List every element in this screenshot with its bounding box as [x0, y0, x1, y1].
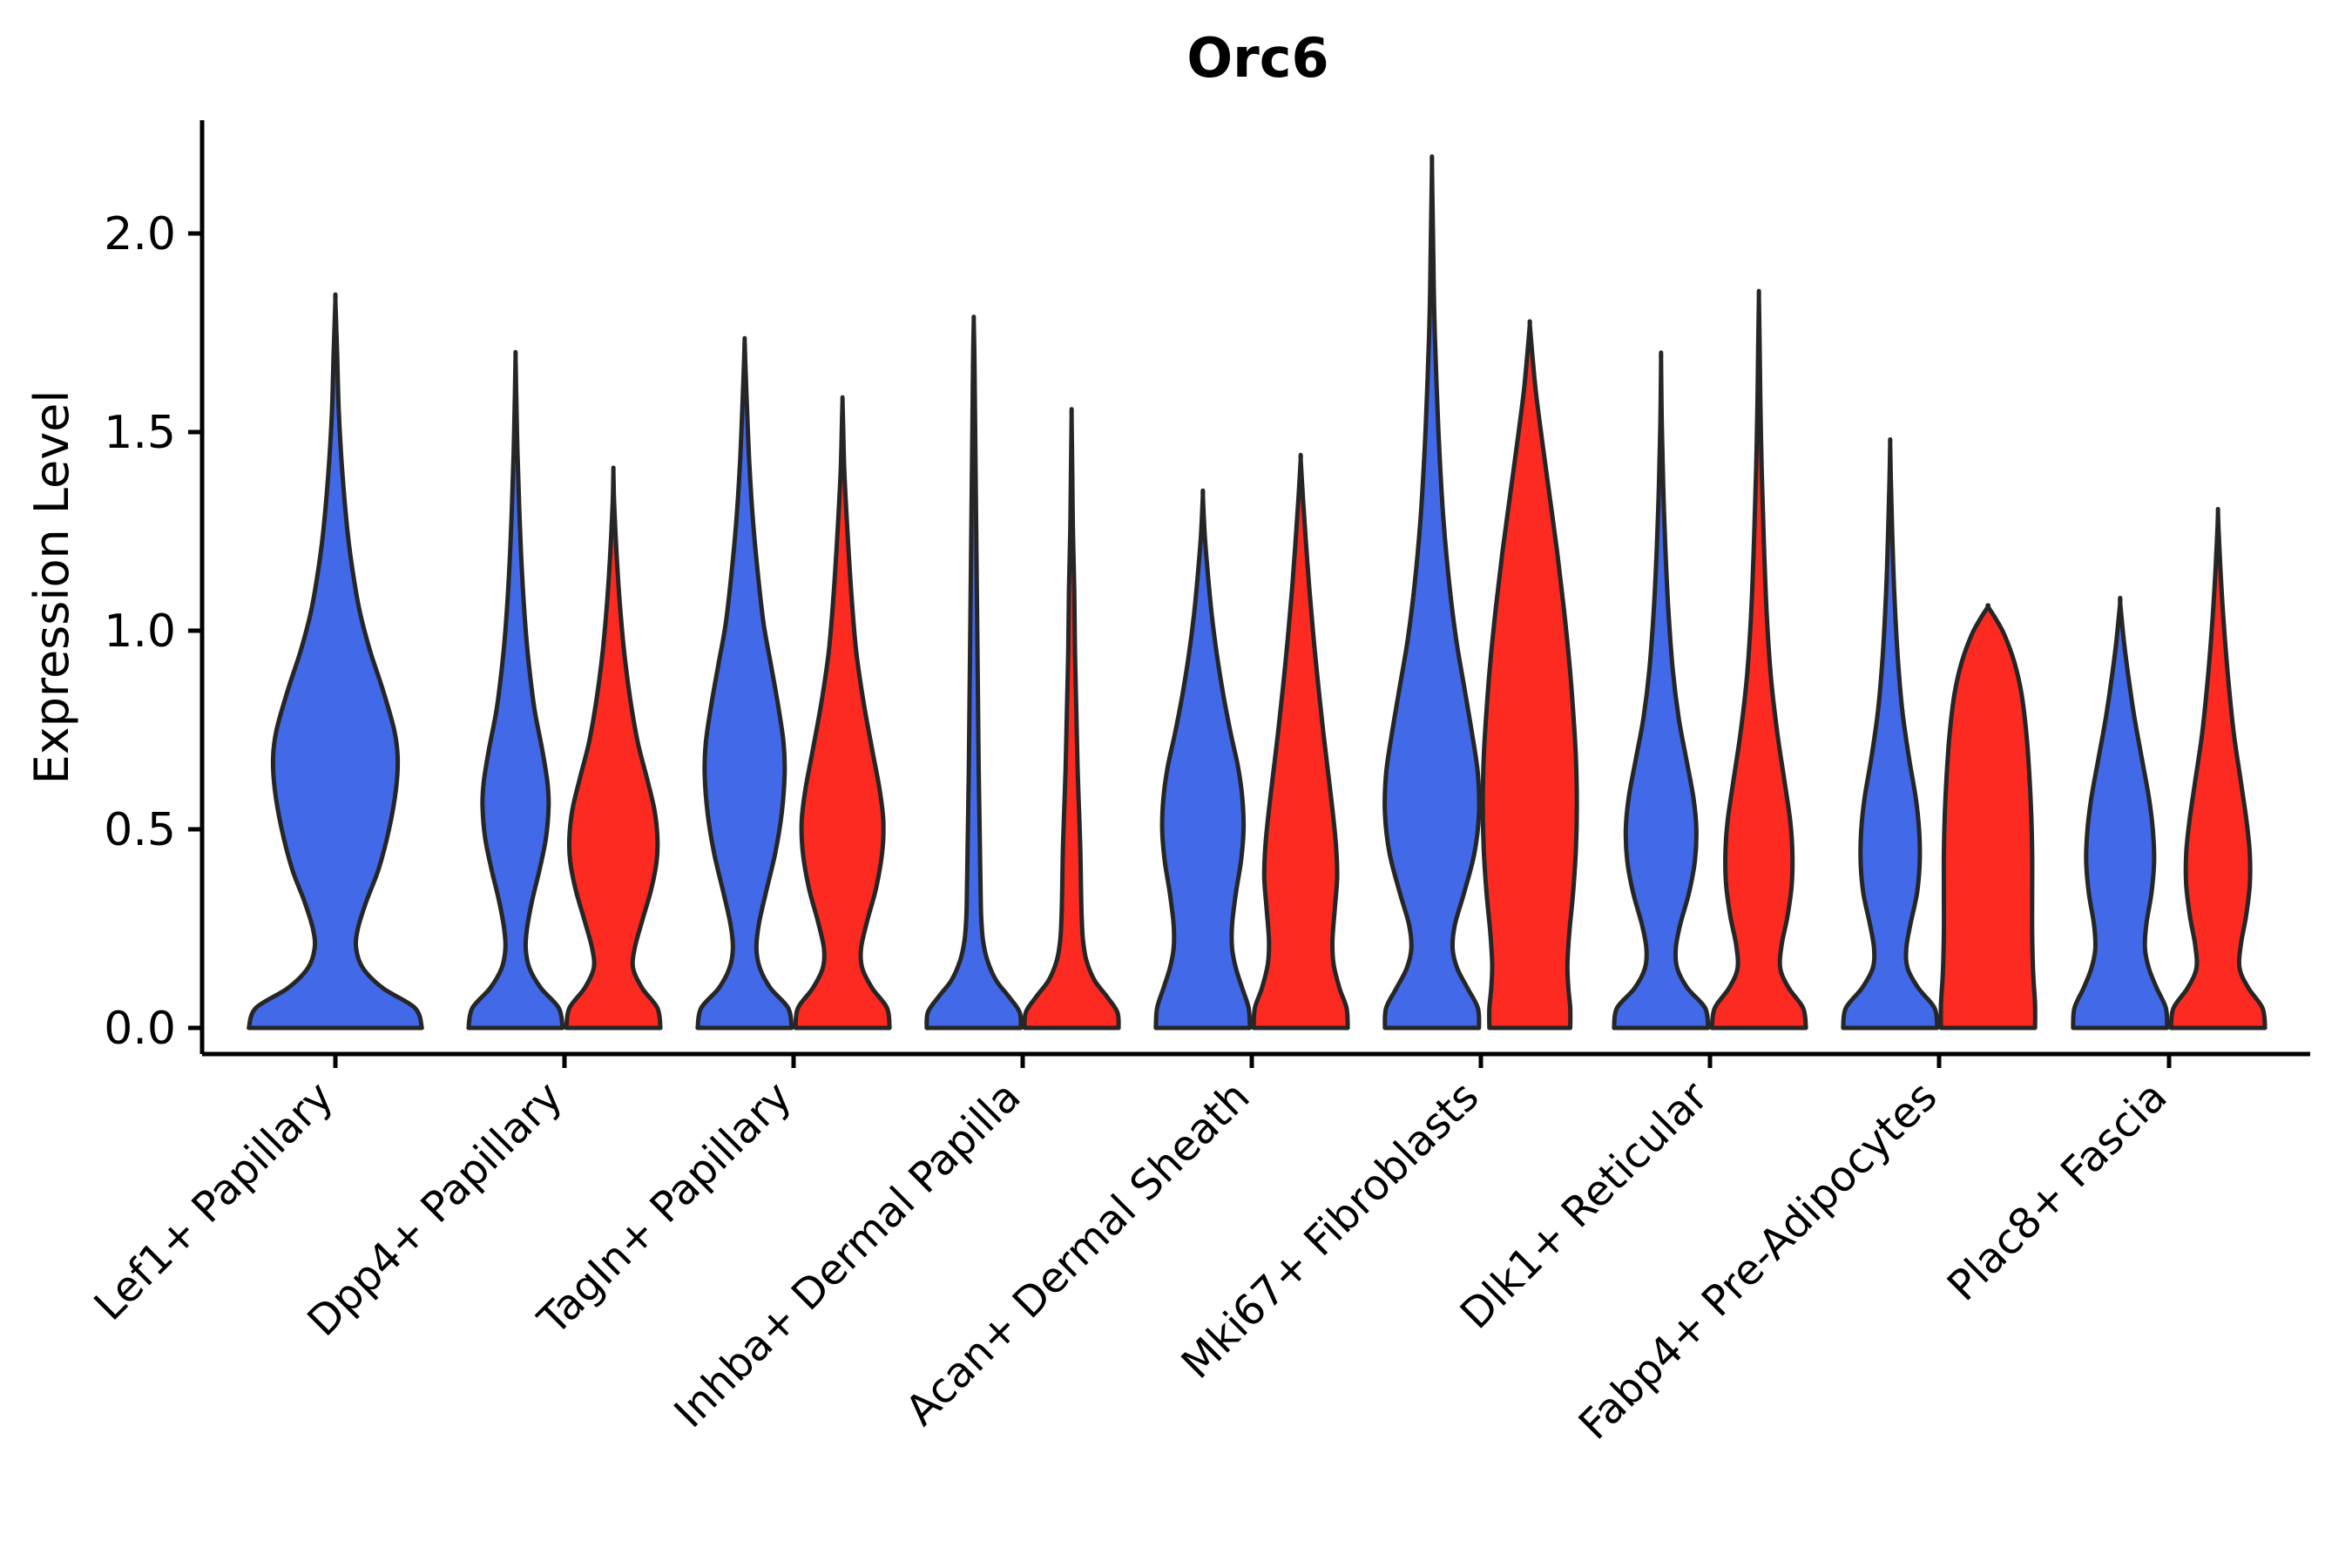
- violin-series-group: [249, 157, 2266, 1028]
- x-tick-label: Plac8+ Fascia: [1938, 1072, 2177, 1311]
- violin-shape-blue: [1614, 353, 1708, 1028]
- violin-shape-red: [795, 397, 889, 1028]
- violin-shape-blue: [927, 317, 1021, 1028]
- page-title: Orc6: [1186, 26, 1328, 90]
- y-axis-label-group: Expression Level: [24, 390, 79, 785]
- y-axis: 0.00.51.01.52.0: [104, 120, 202, 1055]
- violin-shape-red: [1254, 455, 1348, 1028]
- violin-shape-blue: [2073, 598, 2167, 1028]
- violin-shape-red: [1483, 321, 1577, 1028]
- x-tick-label: Dlk1+ Reticular: [1451, 1072, 1718, 1339]
- x-tick-label: Lef1+ Papillary: [85, 1072, 343, 1330]
- x-tick-label-group: Lef1+ PapillaryDpp4+ PapillaryTagIn+ Pap…: [85, 1072, 2177, 1450]
- x-tick-label: TagIn+ Papillary: [529, 1072, 801, 1345]
- violin-shape-blue: [1385, 157, 1480, 1028]
- x-axis: [202, 1054, 2310, 1068]
- violin-shape-red: [2171, 509, 2265, 1028]
- violin-shape-red: [1712, 291, 1806, 1028]
- violin-shape-blue: [1843, 440, 1937, 1028]
- violin-shape-blue: [1156, 490, 1250, 1028]
- violin-shape-blue: [469, 352, 563, 1028]
- violin-shape-blue: [698, 338, 792, 1028]
- x-tick-label: Dpp4+ Papillary: [298, 1072, 571, 1346]
- plot-title-group: Orc6: [1186, 26, 1328, 90]
- y-tick-label: 2.0: [104, 208, 176, 260]
- violin-shape-red: [1024, 409, 1119, 1028]
- violin-plot-canvas: Orc6 Expression Level 0.00.51.01.52.0 Le…: [0, 0, 2352, 1568]
- violin-shape-blue: [249, 294, 422, 1028]
- y-tick-label: 1.5: [104, 407, 176, 459]
- y-axis-label: Expression Level: [24, 390, 79, 785]
- violin-shape-red: [1941, 605, 2035, 1028]
- violin-shape-red: [566, 468, 660, 1028]
- y-tick-label: 0.5: [104, 804, 176, 856]
- y-tick-label: 0.0: [104, 1003, 176, 1055]
- y-tick-label: 1.0: [104, 605, 176, 658]
- violin-plot-figure: Orc6 Expression Level 0.00.51.01.52.0 Le…: [0, 0, 2352, 1568]
